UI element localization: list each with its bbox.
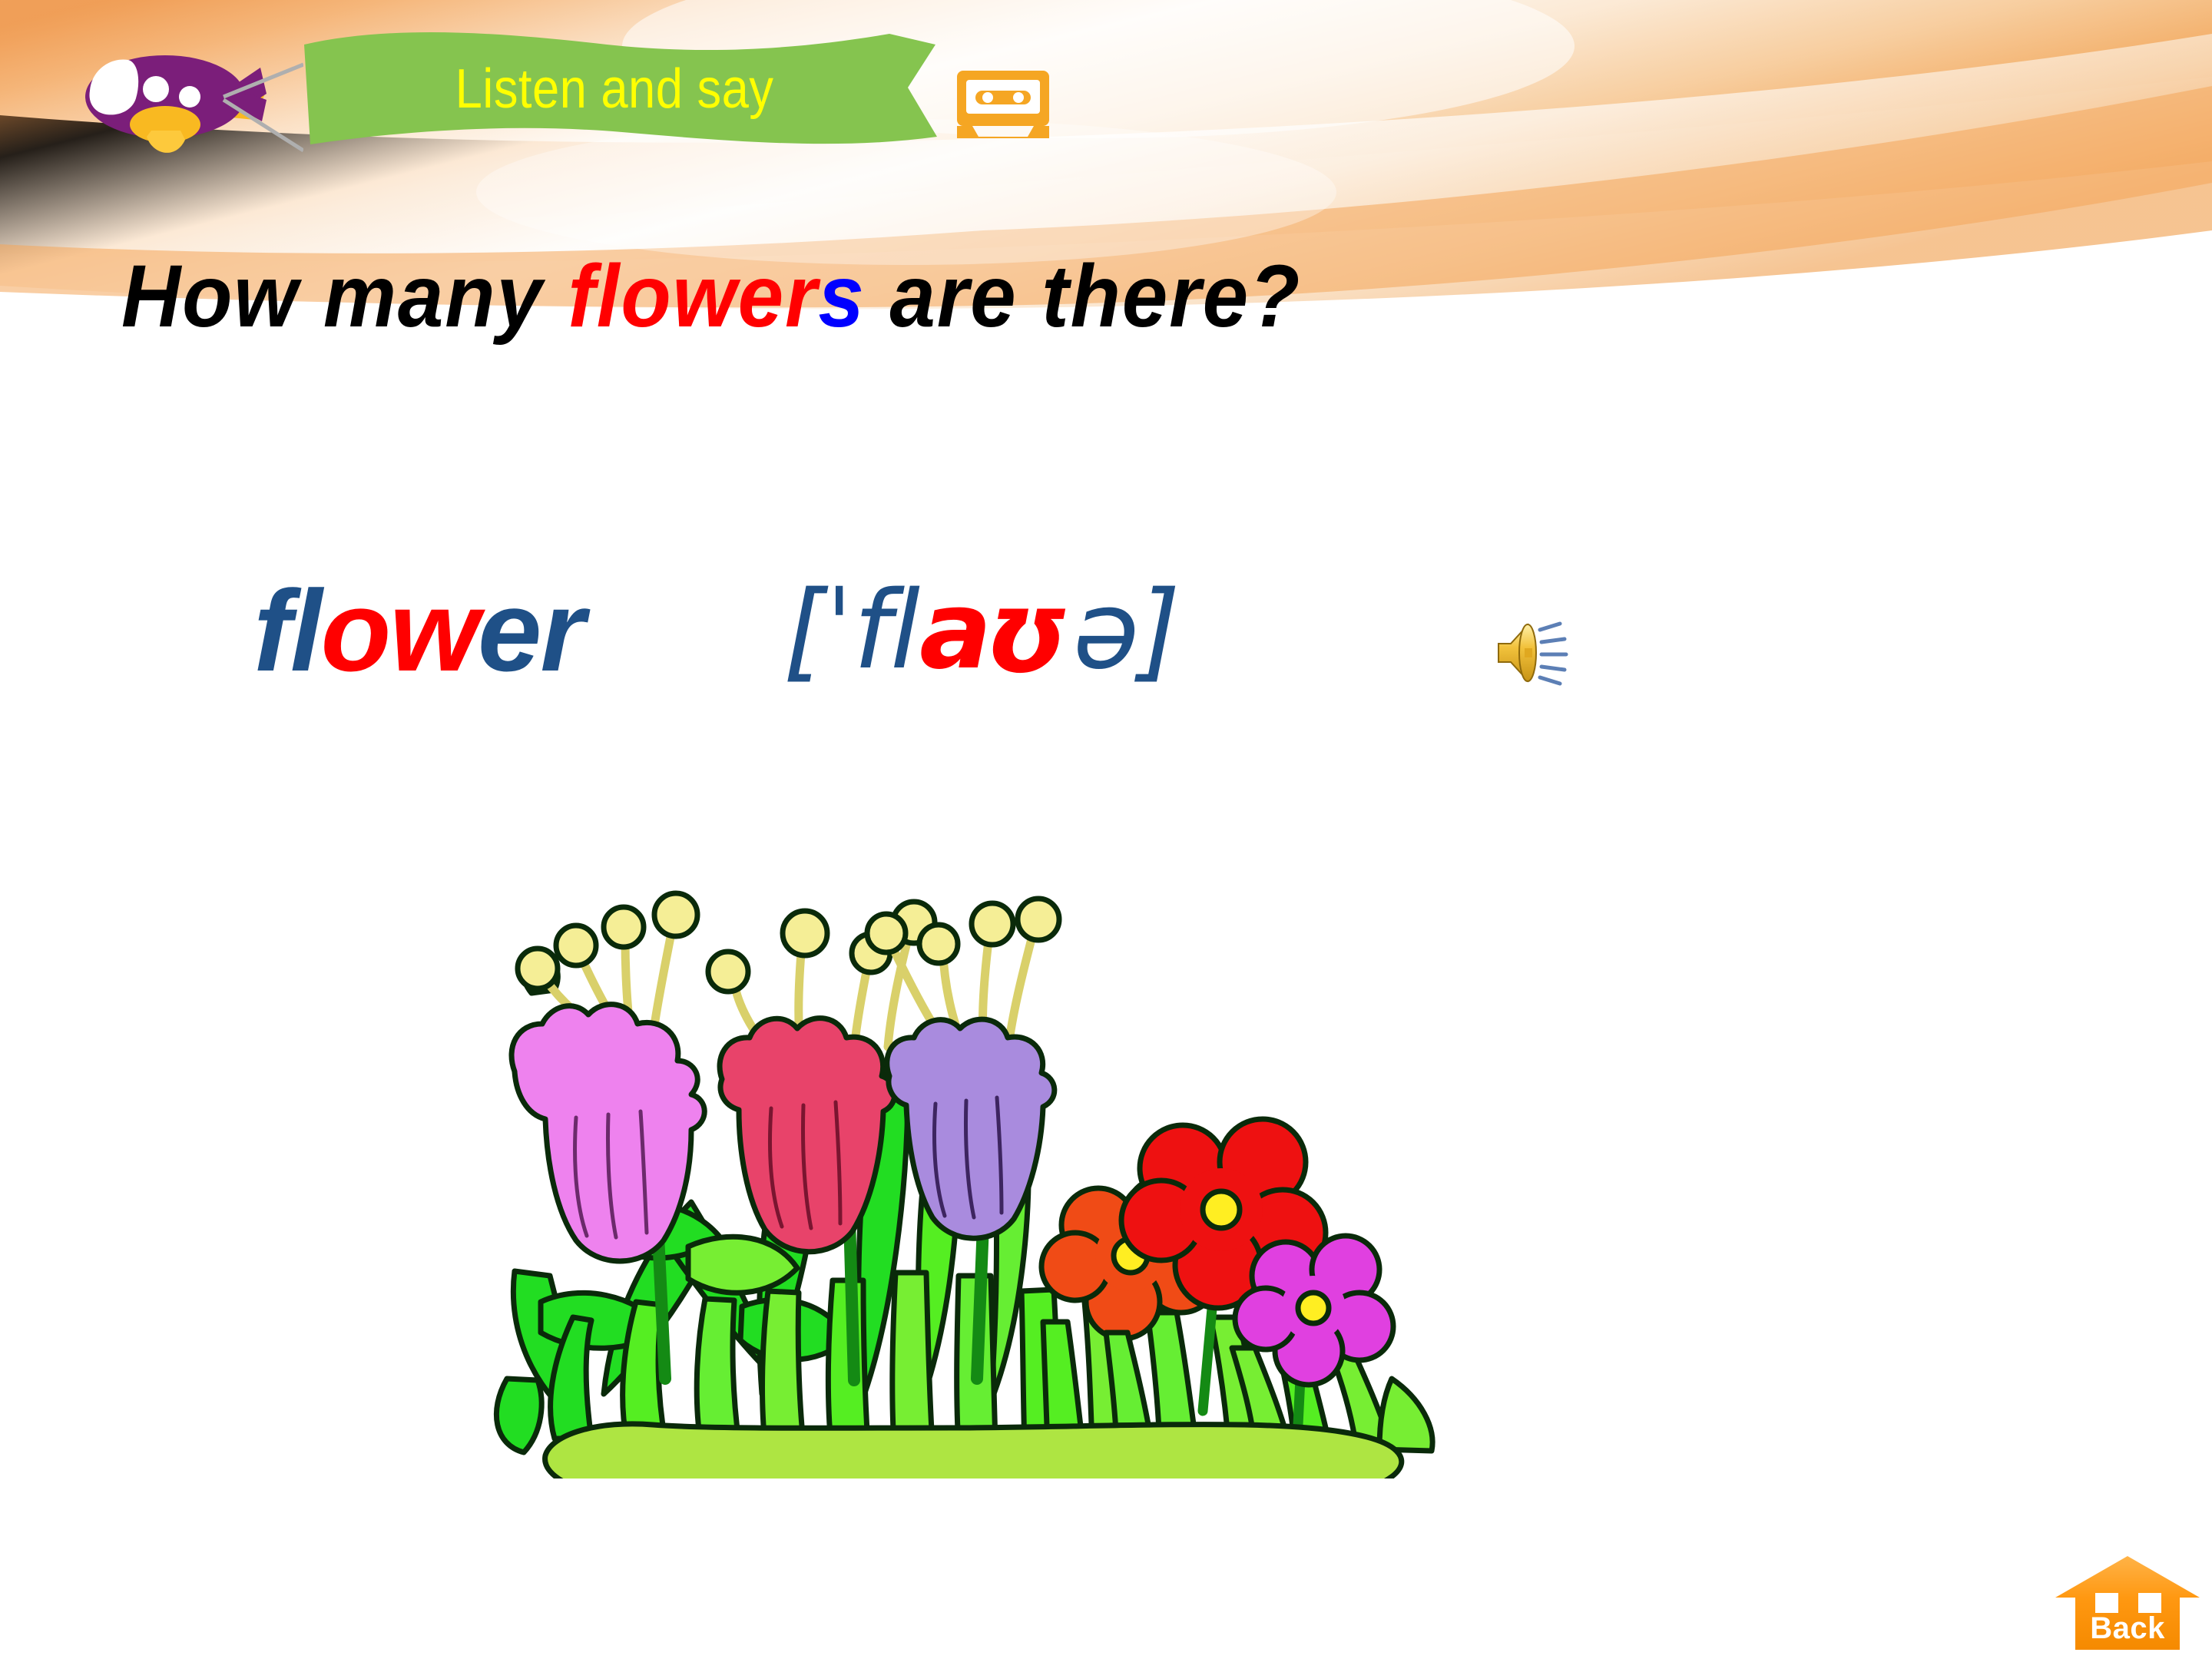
question-part1: How many	[121, 247, 568, 346]
word-start: fl	[253, 566, 321, 695]
back-button[interactable]: Back	[2052, 1553, 2203, 1653]
airplane-icon	[73, 23, 303, 161]
speaker-audio-icon[interactable]	[1494, 614, 1578, 691]
vocabulary-word: flower	[253, 565, 584, 697]
banner-title: Listen and say	[337, 22, 892, 156]
vocabulary-row: flower [ˈflaʊə]	[253, 565, 1180, 697]
word-end: er	[478, 566, 584, 695]
phonetic-close: ]	[1138, 568, 1180, 694]
question-highlight-word: flower	[568, 247, 818, 346]
back-button-label: Back	[2052, 1611, 2203, 1646]
phonetic-schwa: ə	[1073, 568, 1138, 694]
phonetic-open: [ˈfl	[783, 568, 919, 694]
cassette-tape-icon[interactable]	[949, 65, 1057, 143]
phonetic-stress-vowel: aʊ	[919, 568, 1073, 694]
flower-garden-illustration	[461, 841, 1475, 1479]
section-banner: Listen and say	[300, 22, 975, 156]
question-part2: are there?	[866, 247, 1301, 346]
slide-canvas: Listen and say How many flowers are ther…	[0, 0, 2212, 1659]
question-highlight-suffix: s	[818, 247, 865, 346]
question-line: How many flowers are there?	[121, 246, 1301, 347]
word-middle: ow	[321, 566, 478, 695]
phonetic-transcription: [ˈflaʊə]	[783, 568, 1180, 694]
